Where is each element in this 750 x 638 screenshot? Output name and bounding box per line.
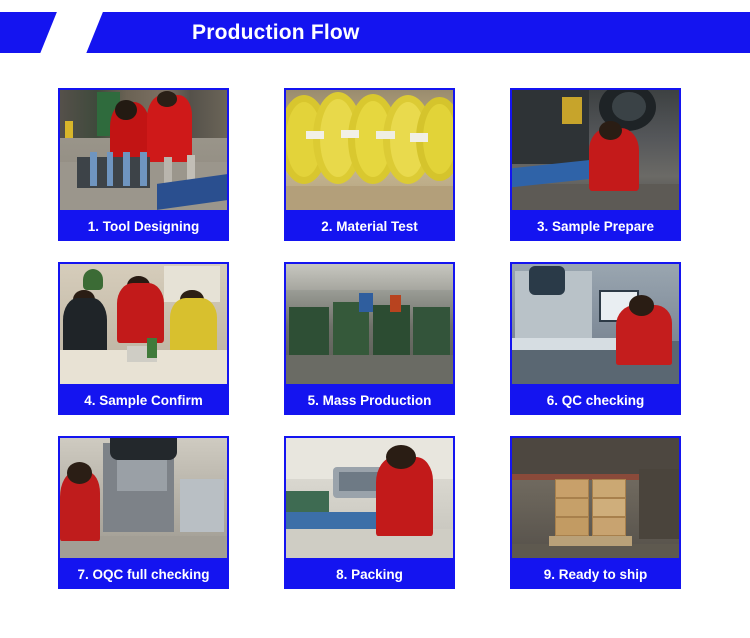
production-flow-grid: 1. Tool Designing 2. Material Test 3. Sa…	[58, 88, 662, 589]
step-photo-ready-to-ship	[510, 436, 681, 560]
step-photo-packing	[284, 436, 455, 560]
step-photo-qc-checking	[510, 262, 681, 386]
page-title: Production Flow	[192, 12, 359, 53]
flow-step-card[interactable]: 1. Tool Designing	[58, 88, 229, 241]
step-label: 5. Mass Production	[284, 386, 455, 415]
step-photo-mass-production	[284, 262, 455, 386]
step-label: 4. Sample Confirm	[58, 386, 229, 415]
step-label: 2. Material Test	[284, 212, 455, 241]
flow-step-card[interactable]: 9. Ready to ship	[510, 436, 681, 589]
flow-step-card[interactable]: 5. Mass Production	[284, 262, 455, 415]
page-header-banner: Production Flow	[0, 12, 750, 53]
step-label: 6. QC checking	[510, 386, 681, 415]
flow-step-card[interactable]: 7. OQC full checking	[58, 436, 229, 589]
flow-step-card[interactable]: 4. Sample Confirm	[58, 262, 229, 415]
step-label: 3. Sample Prepare	[510, 212, 681, 241]
flow-step-card[interactable]: 8. Packing	[284, 436, 455, 589]
step-label: 1. Tool Designing	[58, 212, 229, 241]
step-photo-oqc-full-checking	[58, 436, 229, 560]
step-photo-sample-confirm	[58, 262, 229, 386]
step-label: 7. OQC full checking	[58, 560, 229, 589]
header-slash-decoration	[37, 12, 106, 53]
flow-step-card[interactable]: 3. Sample Prepare	[510, 88, 681, 241]
step-label: 8. Packing	[284, 560, 455, 589]
step-photo-tool-designing	[58, 88, 229, 212]
step-label: 9. Ready to ship	[510, 560, 681, 589]
step-photo-material-test	[284, 88, 455, 212]
step-photo-sample-prepare	[510, 88, 681, 212]
flow-step-card[interactable]: 2. Material Test	[284, 88, 455, 241]
flow-step-card[interactable]: 6. QC checking	[510, 262, 681, 415]
